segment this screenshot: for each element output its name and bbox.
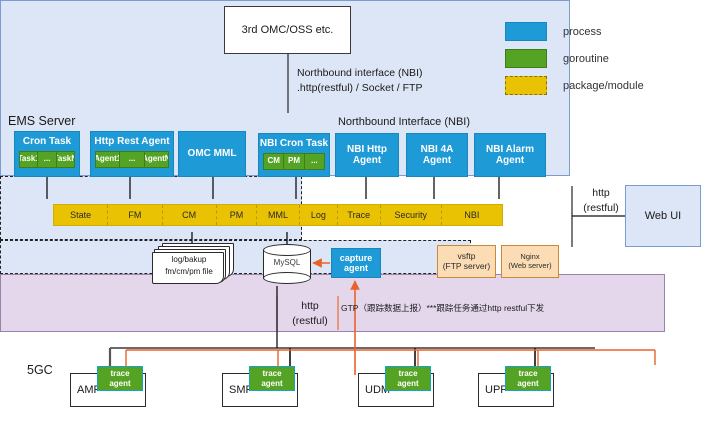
process-nbi-alarm-agent[interactable]: NBI Alarm Agent	[474, 133, 546, 177]
goroutine-agent1[interactable]: Agent1	[95, 151, 120, 168]
goroutine-agent-ellipsis[interactable]: ...	[120, 151, 144, 168]
fivegc-label: 5GC	[27, 363, 53, 377]
trace-agent-smf[interactable]: trace agent	[249, 366, 295, 391]
goroutine-task1[interactable]: Task1	[19, 151, 38, 168]
mysql-cylinder-bottom	[263, 272, 311, 284]
goroutine-swatch	[505, 49, 547, 68]
web-ui-box[interactable]: Web UI	[625, 185, 701, 247]
trace-agent-upf-line2: agent	[517, 379, 538, 388]
goroutine-taskn[interactable]: TaskN	[57, 151, 75, 168]
module-cm[interactable]: CM	[163, 205, 217, 225]
legend-label-package: package/module	[563, 80, 644, 92]
ems-server-label: EMS Server	[8, 114, 75, 128]
fivegc-link-label: http (restful)	[287, 299, 333, 329]
process-nbi-http-agent[interactable]: NBI Http Agent	[335, 133, 399, 177]
nf-upf-box[interactable]: UPF trace agent	[478, 373, 554, 407]
fivegc-link-line2: (restful)	[287, 314, 333, 329]
third-party-label: 3rd OMC/OSS etc.	[242, 24, 334, 37]
nf-smf-box[interactable]: SMF trace agent	[222, 373, 298, 407]
mysql-label: MySQL	[263, 258, 311, 267]
nf-udm-box[interactable]: UDM trace agent	[358, 373, 434, 407]
nf-amf-box[interactable]: AMF trace agent	[70, 373, 146, 407]
nginx-server-box[interactable]: Nginx (Web server)	[501, 245, 559, 278]
nf-upf-label: UPF	[485, 384, 507, 397]
module-state[interactable]: State	[54, 205, 108, 225]
process-nbi-cron-task-title: NBI Cron Task	[259, 138, 329, 150]
module-pm[interactable]: PM	[217, 205, 257, 225]
trace-agent-amf-line2: agent	[109, 379, 130, 388]
process-http-rest-agent-title: Http Rest Agent	[91, 136, 173, 148]
process-nbi-4a-agent[interactable]: NBI 4A Agent	[406, 133, 468, 177]
nginx-line2: (Web server)	[508, 262, 551, 271]
capture-agent-box[interactable]: capture agent	[331, 248, 381, 278]
process-swatch	[505, 22, 547, 41]
trace-agent-udm-line1: trace	[398, 369, 417, 378]
process-nbi-http-agent-title: NBI Http Agent	[336, 144, 398, 167]
legend: process goroutine package/module	[505, 18, 700, 99]
vsftp-line2: (FTP server)	[443, 262, 491, 272]
capture-agent-line1: capture	[340, 253, 373, 263]
trace-agent-amf-line1: trace	[110, 369, 129, 378]
web-ui-link-line2: (restful)	[577, 201, 625, 216]
file-store-stack: log/bakup fm/cm/pm file	[152, 243, 234, 285]
nbi-interface-label: Northbound interface (NBI) .http(restful…	[297, 66, 422, 96]
goroutine-pm[interactable]: PM	[284, 153, 304, 170]
cron-task-goroutines: Task1 ... TaskN	[19, 151, 75, 168]
process-cron-task-title: Cron Task	[15, 136, 79, 148]
legend-row-process: process	[505, 18, 700, 45]
process-nbi-cron-task[interactable]: NBI Cron Task CM PM ...	[258, 133, 330, 177]
trace-agent-smf-line2: agent	[261, 379, 282, 388]
process-http-rest-agent[interactable]: Http Rest Agent Agent1 ... AgentN	[90, 131, 174, 177]
mysql-database: MySQL	[263, 244, 311, 284]
process-nbi-4a-agent-title: NBI 4A Agent	[407, 144, 467, 167]
package-module-bar: State FM CM PM MML Log Trace Security NB…	[53, 204, 503, 226]
trace-agent-upf[interactable]: trace agent	[505, 366, 551, 391]
goroutine-task-ellipsis[interactable]: ...	[38, 151, 56, 168]
file-store-line2: fm/cm/pm file	[152, 266, 226, 278]
file-store-line1: log/bakup	[152, 254, 226, 266]
nbi-interface-label-line1: Northbound interface (NBI)	[297, 66, 422, 81]
trace-agent-udm[interactable]: trace agent	[385, 366, 431, 391]
module-mml[interactable]: MML	[257, 205, 300, 225]
nbi-group-title: Northbound Interface (NBI)	[253, 116, 555, 128]
goroutine-agentn[interactable]: AgentN	[145, 151, 169, 168]
trace-agent-upf-line1: trace	[518, 369, 537, 378]
file-store-text: log/bakup fm/cm/pm file	[152, 254, 226, 278]
web-ui-label: Web UI	[645, 210, 681, 223]
module-security[interactable]: Security	[381, 205, 442, 225]
trace-agent-smf-line1: trace	[262, 369, 281, 378]
module-nbi[interactable]: NBI	[442, 205, 502, 225]
legend-label-process: process	[563, 26, 602, 38]
goroutine-nbi-ellipsis[interactable]: ...	[305, 153, 325, 170]
mysql-cylinder-top	[263, 244, 311, 256]
process-cron-task[interactable]: Cron Task Task1 ... TaskN	[14, 131, 80, 177]
web-ui-link-line1: http	[577, 186, 625, 201]
module-trace[interactable]: Trace	[338, 205, 381, 225]
nbi-interface-label-line2: .http(restful) / Socket / FTP	[297, 81, 422, 96]
capture-agent-line2: agent	[344, 263, 368, 273]
trace-agent-udm-line2: agent	[397, 379, 418, 388]
goroutine-cm[interactable]: CM	[263, 153, 284, 170]
process-nbi-alarm-agent-title: NBI Alarm Agent	[475, 144, 545, 167]
legend-row-package: package/module	[505, 72, 700, 99]
module-fm[interactable]: FM	[108, 205, 162, 225]
trace-agent-amf[interactable]: trace agent	[97, 366, 143, 391]
fivegc-link-line1: http	[287, 299, 333, 314]
gtp-note-label: GTP（跟踪数据上报）***跟踪任务通过http restful下发	[341, 302, 544, 314]
web-ui-link-label: http (restful)	[577, 186, 625, 216]
nbi-cron-task-goroutines: CM PM ...	[263, 153, 325, 170]
process-omc-mml-title: OMC MML	[179, 148, 245, 160]
module-log[interactable]: Log	[300, 205, 338, 225]
legend-row-goroutine: goroutine	[505, 45, 700, 72]
process-omc-mml[interactable]: OMC MML	[178, 131, 246, 177]
vsftp-server-box[interactable]: vsftp (FTP server)	[437, 245, 496, 278]
legend-label-goroutine: goroutine	[563, 53, 609, 65]
third-party-omc-oss-box[interactable]: 3rd OMC/OSS etc.	[224, 6, 351, 54]
package-swatch	[505, 76, 547, 95]
http-rest-agent-goroutines: Agent1 ... AgentN	[95, 151, 169, 168]
